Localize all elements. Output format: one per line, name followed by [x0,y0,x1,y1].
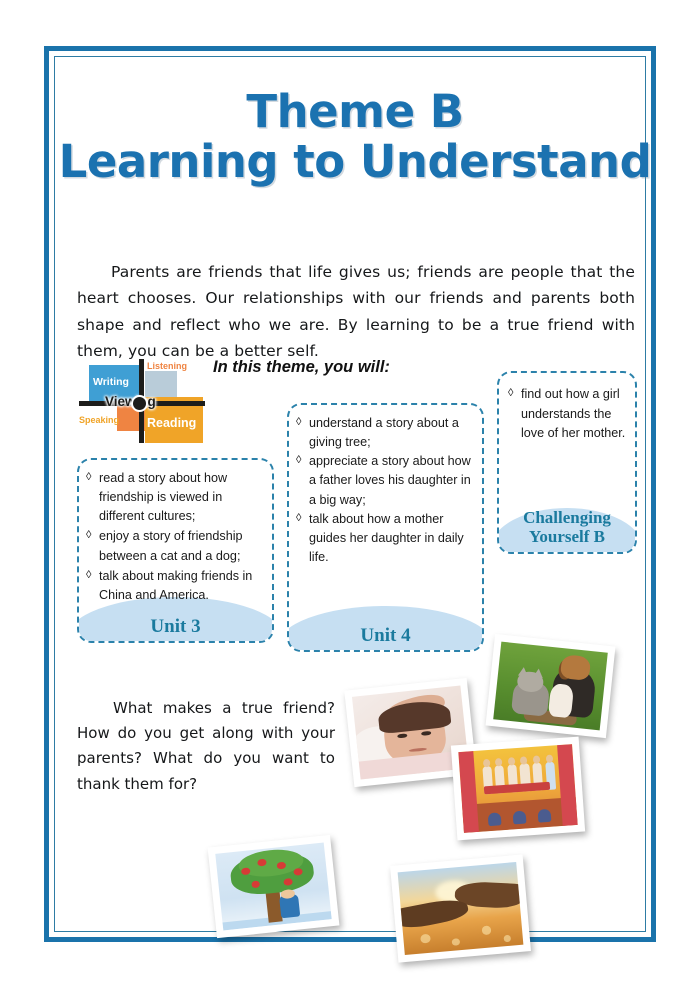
photo-cartoon-stage [451,737,585,841]
skills-logo: Writing Listening Speaking Reading Viewi… [77,357,211,443]
closing-question-paragraph: What makes a true friend? How do you get… [77,696,335,797]
page-content: Theme B Learning to Understand Parents a… [49,51,661,947]
list-item: understand a story about a giving tree; [296,414,474,452]
challenging-yourself-b-label: Challenging Yourself B [499,508,635,546]
list-item: talk about making friends in China and A… [86,567,264,605]
page-frame: Theme B Learning to Understand Parents a… [44,46,656,942]
challenging-yourself-b-objective-list: find out how a girl understands the love… [499,373,635,444]
list-item: appreciate a story about how a father lo… [296,452,474,509]
unit-3-objective-list: read a story about how friendship is vie… [79,460,272,605]
logo-label-reading: Reading [147,416,196,430]
list-item: talk about how a mother guides her daugh… [296,510,474,567]
photo-cat-and-dog-image [493,642,608,731]
theme-lead-text: In this theme, you will: [213,358,390,377]
photo-reaching-hands [390,854,531,962]
list-item: read a story about how friendship is vie… [86,469,264,526]
photo-reaching-hands-image [398,862,524,955]
photo-cat-and-dog [486,634,616,738]
page-title: Theme B Learning to Understand [49,87,661,188]
title-line-subject: Learning to Understand [49,137,661,187]
textbook-page: { "page": { "title_line_1": "Theme B", "… [0,0,700,996]
list-item: find out how a girl understands the love… [508,385,627,444]
photo-cartoon-stage-image [458,744,577,833]
unit-3-label: Unit 3 [79,616,272,637]
title-line-theme: Theme B [49,87,661,137]
photo-apple-tree-image [215,843,331,931]
challenging-label-line-2: Yourself B [499,527,635,546]
challenging-yourself-b-box: find out how a girl understands the love… [497,371,637,554]
unit-4-label: Unit 4 [289,625,482,646]
list-item: enjoy a story of friendship between a ca… [86,527,264,565]
unit-3-box: read a story about how friendship is vie… [77,458,274,643]
intro-paragraph: Parents are friends that life gives us; … [77,259,635,366]
photo-apple-tree [208,835,340,938]
viewing-dot-icon [131,395,148,412]
unit-4-box: understand a story about a giving tree; … [287,403,484,652]
logo-label-speaking: Speaking [79,415,119,425]
unit-4-objective-list: understand a story about a giving tree; … [289,405,482,567]
logo-label-writing: Writing [93,376,129,388]
challenging-label-line-1: Challenging [499,508,635,527]
logo-label-listening: Listening [147,361,187,371]
